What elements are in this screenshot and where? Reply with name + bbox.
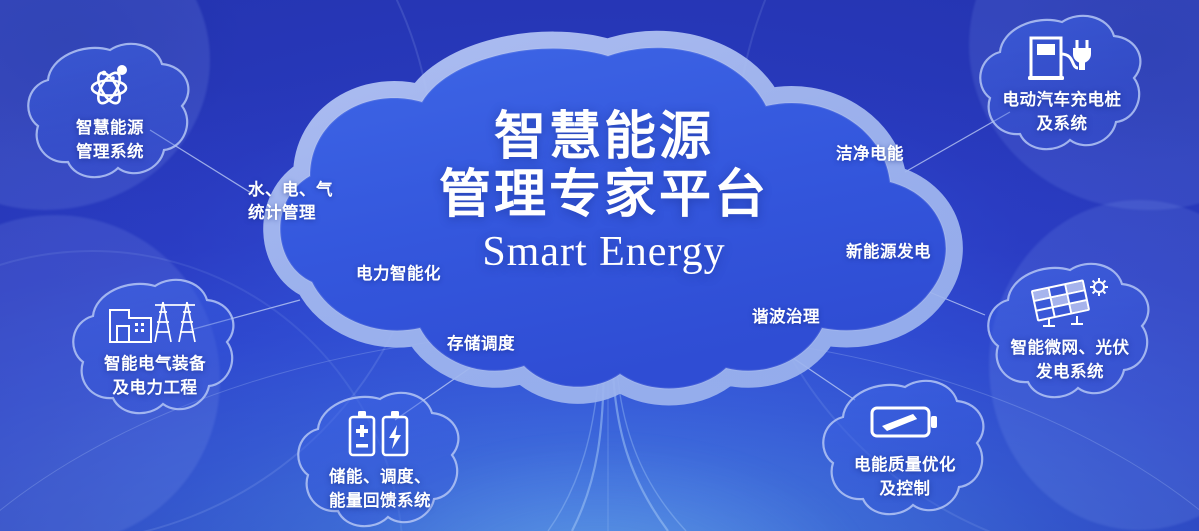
- solar-panel-icon: [1029, 277, 1111, 333]
- atom-icon: [84, 60, 136, 110]
- batteries-icon: [345, 408, 415, 460]
- keyword-new-energy-generation: 新能源发电: [846, 240, 931, 263]
- node-label: 电动汽车充电桩 及系统: [962, 88, 1162, 136]
- substation-icon: [107, 296, 203, 346]
- node-storage-dispatch-feedback[interactable]: 储能、调度、 能量回馈系统: [280, 385, 480, 531]
- node-label: 智能微网、光伏 发电系统: [970, 336, 1170, 384]
- node-smart-electrical-equipment[interactable]: 智能电气装备 及电力工程: [55, 272, 255, 432]
- keyword-clean-power: 洁净电能: [836, 142, 904, 165]
- node-label: 智慧能源 管理系统: [10, 116, 210, 164]
- batteries-icon: [280, 407, 480, 461]
- atom-icon: [10, 58, 210, 112]
- node-label: 智能电气装备 及电力工程: [55, 352, 255, 400]
- keyword-storage-dispatch: 存储调度: [447, 332, 515, 355]
- keyword-power-intelligence: 电力智能化: [356, 262, 441, 285]
- battery-bolt-icon: [869, 400, 941, 444]
- node-microgrid-photovoltaic[interactable]: 智能微网、光伏 发电系统: [970, 256, 1170, 416]
- node-label: 电能质量优化 及控制: [805, 453, 1005, 501]
- node-label: 储能、调度、 能量回馈系统: [280, 465, 480, 513]
- node-smart-energy-management-system[interactable]: 智慧能源 管理系统: [10, 36, 210, 196]
- substation-icon: [55, 294, 255, 348]
- keyword-harmonic-governance: 谐波治理: [752, 305, 820, 328]
- charging-pile-icon: [962, 30, 1162, 84]
- node-ev-charging-pile[interactable]: 电动汽车充电桩 及系统: [962, 8, 1162, 168]
- keyword-water-power-gas: 水、电、气 统计管理: [248, 178, 333, 224]
- solar-panel-icon: [970, 278, 1170, 332]
- infographic-canvas: 智慧能源 管理专家平台 Smart Energy 水、电、气 统计管理电力智能化…: [0, 0, 1199, 531]
- charging-pile-icon: [1025, 32, 1099, 82]
